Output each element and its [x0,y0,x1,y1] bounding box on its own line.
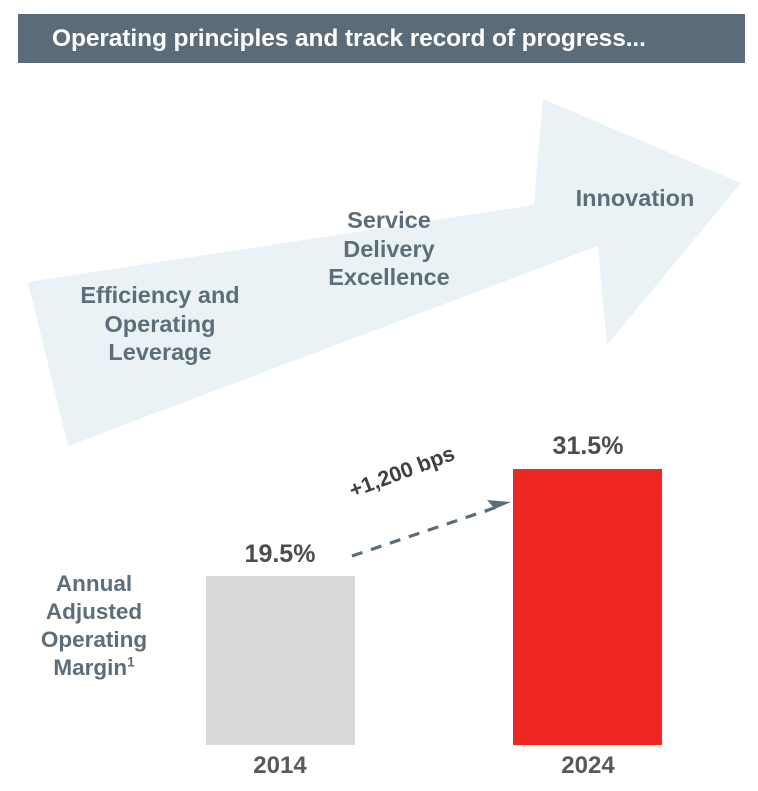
arrow-caption-service: Service Delivery Excellence [288,206,490,292]
bar-category-2014: 2014 [200,752,360,780]
bar-value-2014: 19.5% [200,540,360,569]
bps-callout-label: +1,200 bps [346,441,458,503]
slide-title-bar: Operating principles and track record of… [18,14,745,63]
bps-dashed-line [352,507,497,556]
bar-2014 [206,576,355,745]
bar-value-2024: 31.5% [508,432,668,461]
y-axis-label-footnote-marker: 1 [127,655,135,670]
bar-category-2024: 2024 [508,752,668,780]
arrow-caption-innovation: Innovation [540,184,730,213]
y-axis-label: Annual Adjusted Operating Margin1 [8,570,180,683]
bar-2024 [513,469,662,745]
bps-arrowhead-icon [483,500,511,514]
arrow-caption-efficiency: Efficiency and Operating Leverage [48,281,272,367]
page-title: Operating principles and track record of… [52,25,646,53]
